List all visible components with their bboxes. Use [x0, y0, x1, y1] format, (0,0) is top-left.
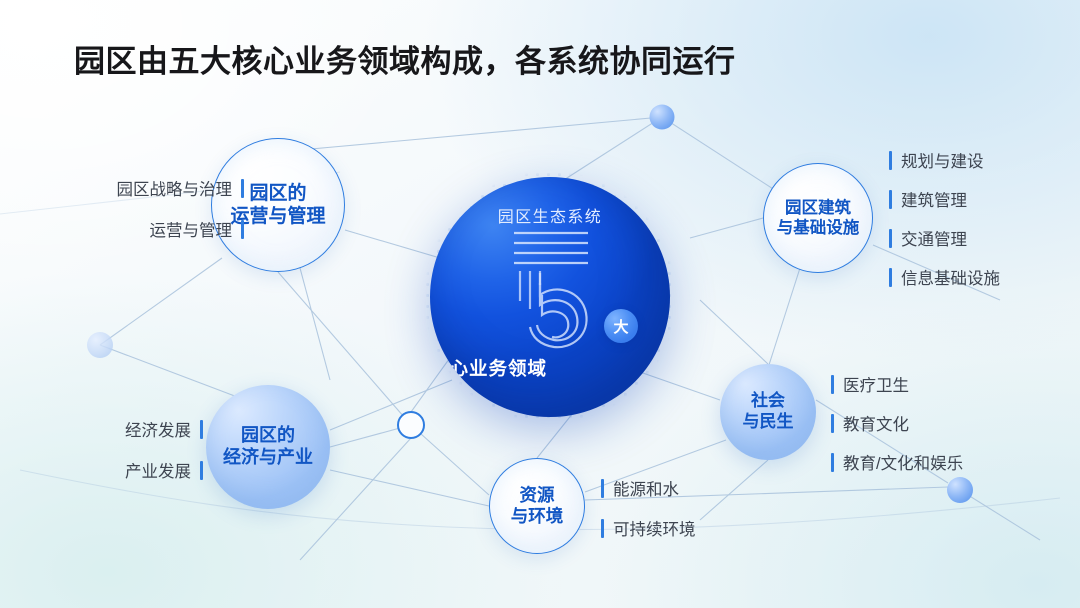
bullet-bar-icon: [831, 414, 834, 433]
list-item[interactable]: 运营与管理: [150, 217, 245, 241]
bubble-economy-line2: 经济与产业: [223, 447, 313, 469]
core-bottom-label: 核心业务领域: [430, 355, 670, 381]
bubble-resources-line2: 与环境: [511, 506, 564, 527]
list-item-label: 建筑管理: [901, 187, 967, 211]
list-item-label: 运营与管理: [150, 217, 233, 241]
list-item-label: 可持续环境: [613, 516, 696, 540]
bullet-bar-icon: [831, 375, 834, 394]
bullet-bar-icon: [889, 151, 892, 170]
list-resources: 能源和水 可持续环境: [601, 476, 696, 540]
list-item-label: 园区战略与治理: [117, 176, 233, 200]
diagram-canvas: 园区由五大核心业务领域构成，各系统协同运行: [0, 0, 1080, 608]
bullet-bar-icon: [831, 453, 834, 472]
node-top: [650, 105, 675, 130]
list-item-label: 医疗卫生: [843, 372, 909, 396]
list-item-label: 产业发展: [125, 458, 191, 482]
bubble-buildings[interactable]: 园区建筑 与基础设施: [763, 163, 873, 273]
core-sphere[interactable]: 园区生态系统 大: [430, 177, 670, 417]
bubble-economy[interactable]: 园区的 经济与产业: [206, 385, 330, 509]
list-item[interactable]: 经济发展: [125, 417, 203, 441]
list-item[interactable]: 医疗卫生: [831, 372, 963, 396]
list-item[interactable]: 信息基础设施: [889, 265, 1000, 289]
list-item[interactable]: 教育文化: [831, 411, 963, 435]
list-buildings: 规划与建设 建筑管理 交通管理 信息基础设施: [889, 148, 1000, 289]
node-left: [87, 332, 113, 358]
bullet-bar-icon: [241, 179, 244, 198]
bubble-buildings-line2: 与基础设施: [777, 218, 860, 238]
bullet-bar-icon: [889, 190, 892, 209]
bubble-operations-line1: 园区的: [249, 182, 306, 205]
list-item[interactable]: 能源和水: [601, 476, 696, 500]
list-item-label: 交通管理: [901, 226, 967, 250]
list-item-label: 经济发展: [125, 417, 191, 441]
list-item[interactable]: 可持续环境: [601, 516, 696, 540]
bullet-bar-icon: [889, 229, 892, 248]
bubble-economy-line1: 园区的: [241, 425, 295, 447]
list-society: 医疗卫生 教育文化 教育/文化和娱乐: [831, 372, 963, 474]
list-economy: 经济发展 产业发展: [125, 417, 203, 482]
bullet-bar-icon: [601, 519, 604, 538]
bullet-bar-icon: [200, 461, 203, 480]
list-item-label: 规划与建设: [901, 148, 984, 172]
badge-da: 大: [604, 309, 638, 343]
list-item[interactable]: 规划与建设: [889, 148, 1000, 172]
bubble-society-line2: 与民生: [743, 412, 794, 433]
bubble-resources-line1: 资源: [520, 485, 555, 506]
bubble-resources[interactable]: 资源 与环境: [489, 458, 585, 554]
node-bottom-right: [947, 477, 973, 503]
list-item[interactable]: 产业发展: [125, 458, 203, 482]
list-operations: 园区战略与治理 运营与管理: [117, 176, 245, 241]
bullet-bar-icon: [241, 220, 244, 239]
bubble-buildings-line1: 园区建筑: [785, 198, 851, 218]
bubble-society[interactable]: 社会 与民生: [720, 364, 816, 460]
bullet-bar-icon: [200, 420, 203, 439]
list-item[interactable]: 教育/文化和娱乐: [831, 450, 963, 474]
bubble-operations-line2: 运营与管理: [230, 205, 325, 228]
list-item[interactable]: 建筑管理: [889, 187, 1000, 211]
list-item-label: 教育文化: [843, 411, 909, 435]
list-item-label: 信息基础设施: [901, 265, 1000, 289]
bubble-society-line1: 社会: [751, 391, 785, 412]
list-item-label: 能源和水: [613, 476, 679, 500]
list-item[interactable]: 园区战略与治理: [117, 176, 245, 200]
node-center-ring: [398, 412, 424, 438]
list-item[interactable]: 交通管理: [889, 226, 1000, 250]
numeral-five-icon: [490, 223, 610, 353]
list-item-label: 教育/文化和娱乐: [843, 450, 963, 474]
bullet-bar-icon: [601, 479, 604, 498]
bullet-bar-icon: [889, 268, 892, 287]
